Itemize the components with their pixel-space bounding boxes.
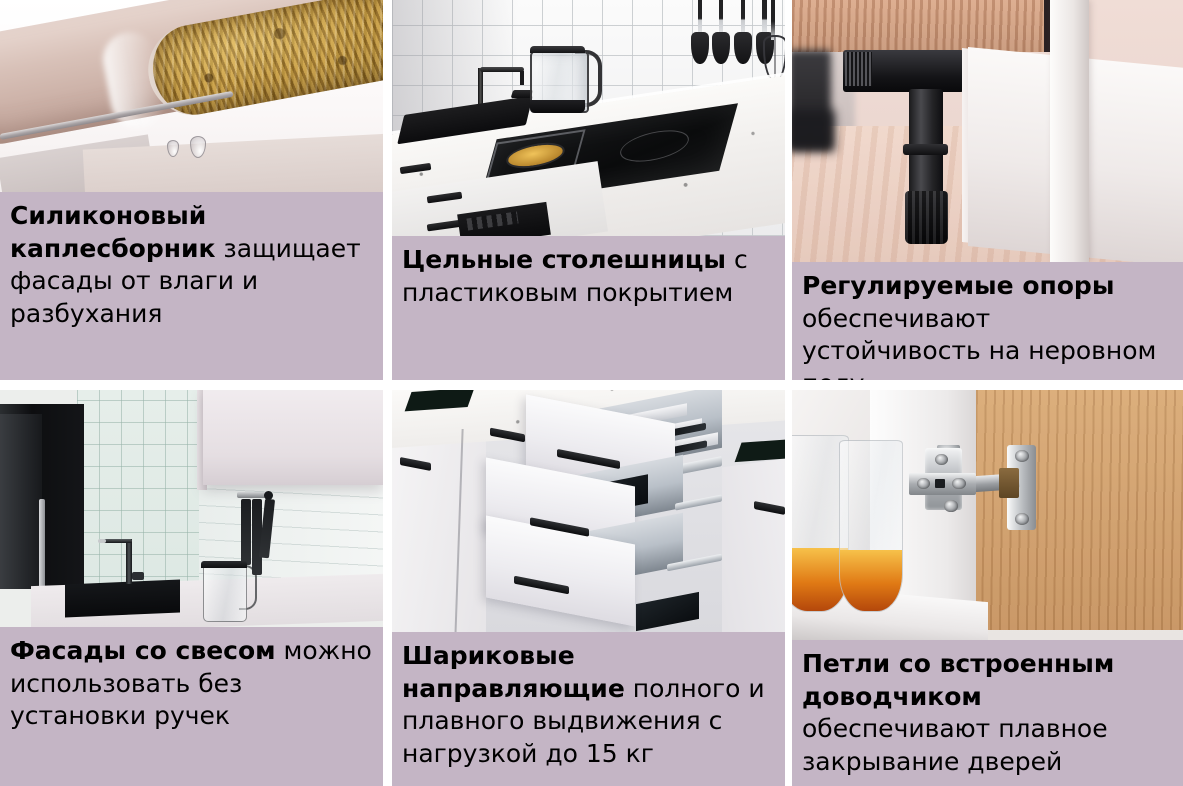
bracket-ribbing: [845, 52, 872, 86]
sink-basin: [65, 579, 180, 617]
hinge-adjustment-slot: [935, 479, 945, 488]
left-cabinet-front: [392, 424, 486, 632]
feature-card-silicone-drip-catcher[interactable]: Силиконовый каплесборник защищает фасады…: [0, 0, 383, 380]
screw-icon: [1015, 450, 1029, 462]
kettle-lid: [530, 46, 585, 53]
refrigerator-handle: [39, 499, 45, 599]
caption-silicone-drip-catcher: Силиконовый каплесборник защищает фасады…: [0, 192, 383, 380]
caption-adjustable-legs: Регулируемые опоры обеспечивают устойчив…: [792, 262, 1183, 380]
wall-cabinet-with-overhang: [203, 390, 383, 485]
screw-icon: [944, 500, 957, 512]
leg-shaft: [909, 89, 942, 194]
caption-rest-text: обеспечивают устойчивость на неровном по…: [802, 304, 1156, 381]
background-foot-blurred: [792, 110, 835, 152]
leg-foot-base: [905, 191, 948, 243]
screw-icon: [935, 454, 948, 466]
photo-kitchen-corner: [0, 390, 383, 627]
spatula-icon: [712, 0, 730, 64]
wooden-cabinet-bottom: [792, 0, 1050, 52]
whisk-icon: [763, 0, 783, 78]
photo-countertop-cross-section: [0, 0, 383, 192]
spatula-icon: [691, 0, 709, 64]
caption-bold-text: Силиконовый каплесборник: [10, 201, 215, 263]
caption-bold-text: Цельные столешницы: [402, 245, 726, 274]
caption-soft-close-hinges: Петли со встроенным доводчиком обеспечив…: [792, 640, 1183, 786]
feature-grid: Силиконовый каплесборник защищает фасады…: [0, 0, 1183, 786]
mint-tile-backsplash: [77, 390, 200, 599]
right-cabinet-front: [722, 453, 785, 632]
caption-bold-text: Петли со встроенным доводчиком: [802, 649, 1114, 711]
photo-open-drawers: [392, 390, 785, 632]
caption-bold-text: Регулируемые опоры: [802, 271, 1114, 300]
drawer-contents: [636, 592, 699, 631]
feature-card-soft-close-hinges[interactable]: Петли со встроенным доводчиком обеспечив…: [792, 390, 1183, 786]
screw-icon: [952, 478, 965, 490]
leg-adjustment-collar: [903, 144, 948, 154]
caption-bold-text: Фасады со свесом: [10, 636, 276, 665]
faucet-column: [126, 539, 131, 584]
jug-lid: [201, 561, 247, 568]
feature-card-overhang-fronts[interactable]: Фасады со свесом можно использовать без …: [0, 390, 383, 786]
cabinet-side-panel: [1050, 0, 1089, 262]
feature-card-ball-bearing-slides[interactable]: Шариковые направляющие полного и плавног…: [392, 390, 785, 786]
faucet-lever: [132, 572, 143, 579]
feature-card-adjustable-legs[interactable]: Регулируемые опоры обеспечивают устойчив…: [792, 0, 1183, 380]
photo-kitchen-countertop: [392, 0, 785, 236]
caption-overhang-fronts: Фасады со свесом можно использовать без …: [0, 627, 383, 786]
feature-card-solid-countertops[interactable]: Цельные столешницы с пластиковым покрыти…: [392, 0, 785, 380]
hinge-cup-boss: [999, 468, 1019, 498]
screw-icon: [1015, 513, 1029, 525]
caption-ball-bearing-slides: Шариковые направляющие полного и плавног…: [392, 632, 785, 786]
glass-jug: [203, 563, 247, 622]
caption-rest-text: обеспечивают плавное закрывание дверей: [802, 714, 1108, 776]
kettle-base: [530, 100, 585, 113]
hanging-utensil: [241, 499, 251, 565]
caption-bold-text: Шариковые направляющие: [402, 641, 625, 703]
spatula-icon: [734, 0, 752, 64]
faucet-spout: [520, 71, 524, 85]
drinking-glass: [839, 440, 904, 612]
photo-adjustable-leg: [792, 0, 1183, 262]
faucet-arm: [480, 67, 523, 72]
cooktop-cutout: [734, 439, 785, 463]
photo-concealed-hinge: [792, 390, 1183, 640]
caption-solid-countertops: Цельные столешницы с пластиковым покрыти…: [392, 236, 785, 380]
faucet-aerator: [98, 539, 106, 543]
refrigerator-side: [0, 414, 42, 589]
